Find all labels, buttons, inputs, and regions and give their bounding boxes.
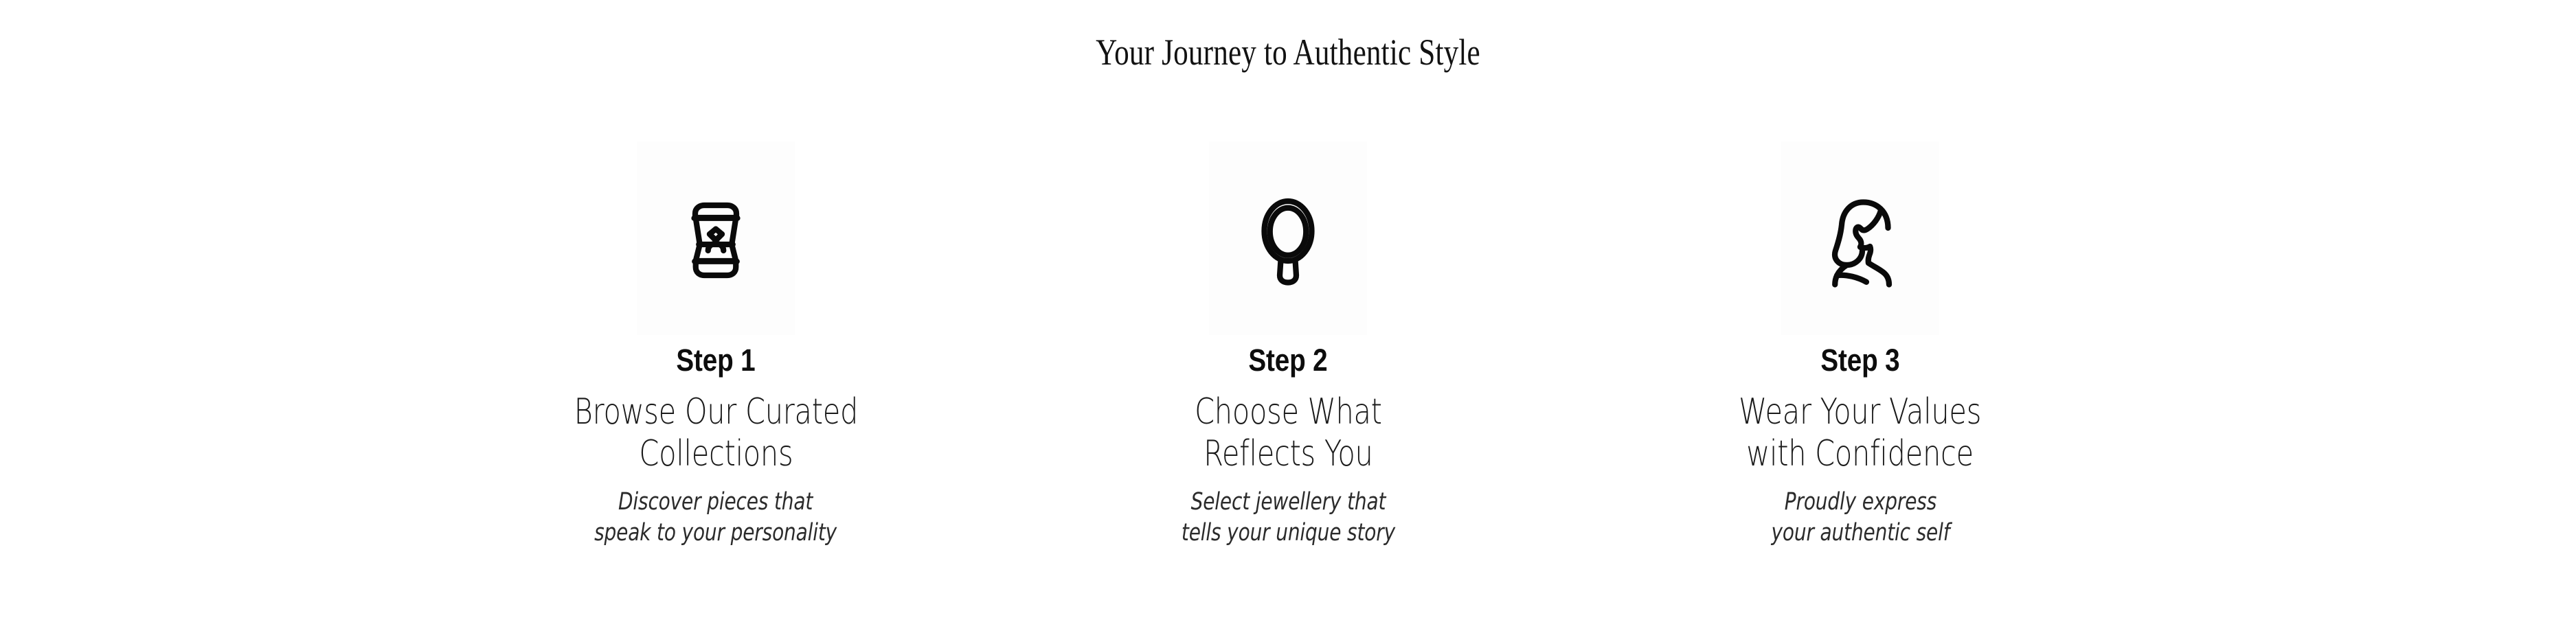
step-heading-1: Browse Our Curated Collections: [574, 394, 857, 472]
step-heading-3: Wear Your Values with Confidence: [1739, 394, 1982, 472]
step-sub-2-line1: Select jewellery that: [1181, 490, 1394, 514]
how-it-works-section: Your Journey to Authentic Style: [0, 0, 2576, 644]
step-sub-2-line2: tells your unique story: [1181, 520, 1394, 545]
step-sub-1-line1: Discover pieces that: [595, 490, 837, 514]
step-heading-1-line1: Browse Our Curated: [574, 394, 857, 430]
step-card-2: Step 2 Choose What Reflects You Select j…: [1002, 141, 1574, 545]
step-heading-2-line1: Choose What: [1195, 394, 1382, 430]
step-card-3: Step 3 Wear Your Values with Confidence …: [1574, 141, 2147, 545]
step-heading-2-line2: Reflects You: [1195, 436, 1382, 472]
woman-profile-icon: [1781, 141, 1939, 335]
steps-row: Step 1 Browse Our Curated Collections Di…: [0, 141, 2576, 545]
step-heading-3-line1: Wear Your Values: [1739, 394, 1982, 430]
step-card-1: Step 1 Browse Our Curated Collections Di…: [430, 141, 1002, 545]
step-label-2: Step 2: [1248, 345, 1327, 376]
section-title: Your Journey to Authentic Style: [258, 30, 2318, 74]
step-heading-3-line2: with Confidence: [1739, 436, 1982, 472]
step-heading-1-line2: Collections: [574, 436, 857, 472]
step-sub-3-line1: Proudly express: [1771, 490, 1950, 514]
ring-box-icon: [637, 141, 795, 335]
step-sub-3: Proudly express your authentic self: [1771, 490, 1950, 545]
step-sub-3-line2: your authentic self: [1771, 520, 1950, 545]
step-sub-1-line2: speak to your personality: [595, 520, 837, 545]
step-label-3: Step 3: [1820, 345, 1899, 376]
step-sub-1: Discover pieces that speak to your perso…: [595, 490, 837, 545]
step-label-1: Step 1: [676, 345, 755, 376]
hand-mirror-icon: [1209, 141, 1367, 335]
step-sub-2: Select jewellery that tells your unique …: [1181, 490, 1394, 545]
step-heading-2: Choose What Reflects You: [1195, 394, 1382, 472]
